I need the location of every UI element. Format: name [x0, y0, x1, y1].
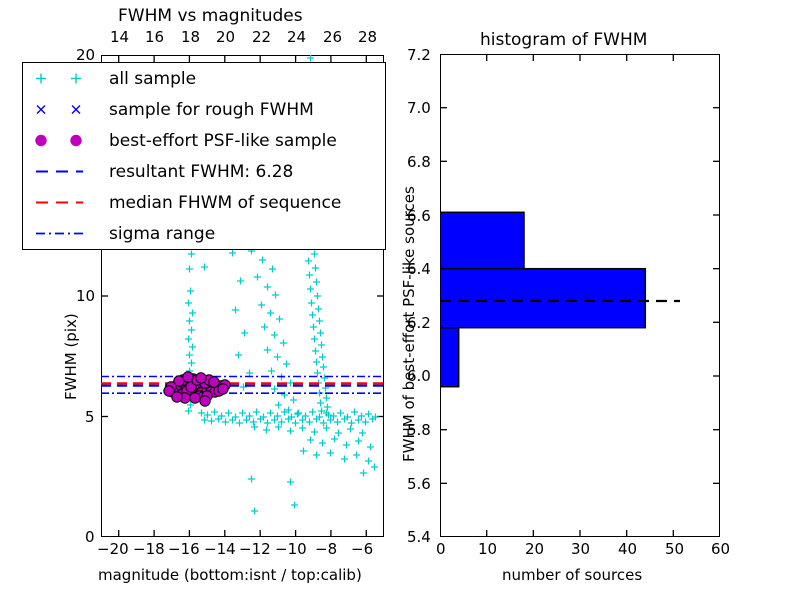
scatter-x-tick--12: −12: [239, 540, 271, 558]
scatter-y-axis-label: FWHM (pix): [62, 313, 80, 400]
legend-item-psf-sample[interactable]: best-effort PSF-like sample: [23, 125, 385, 156]
scatter-top-tick-14: 14: [110, 28, 129, 46]
circle-marker-icon: [23, 125, 109, 156]
legend-item-all-sample[interactable]: all sample: [23, 63, 385, 94]
histogram-bar: [440, 328, 459, 387]
hist-x-tick-50: 50: [665, 540, 684, 558]
legend-label: sigma range: [109, 224, 215, 244]
scatter-x-tick--8: −8: [315, 540, 337, 558]
hist-y-tick-7.0: 7.0: [407, 99, 431, 117]
scatter-x-tick--16: −16: [168, 540, 200, 558]
legend-item-rough-sample[interactable]: sample for rough FWHM: [23, 94, 385, 125]
dashed-line-icon: [23, 187, 109, 218]
histogram-plot-area: [440, 54, 720, 537]
plus-marker-icon: [23, 63, 109, 94]
histogram-bar: [440, 269, 645, 328]
legend-label: median FHWM of sequence: [109, 193, 341, 213]
histogram-bars: [440, 212, 645, 386]
legend: all sample sample for rough FWHM b: [22, 62, 386, 250]
histogram-x-axis-label: number of sources: [502, 566, 642, 584]
cross-marker-icon: [23, 94, 109, 125]
scatter-x-tick--6: −6: [351, 540, 373, 558]
histogram-title: histogram of FWHM: [480, 30, 647, 50]
scatter-x-tick--14: −14: [204, 540, 236, 558]
dashed-line-icon: [23, 156, 109, 187]
legend-item-median-fhwm[interactable]: median FHWM of sequence: [23, 187, 385, 218]
legend-item-resultant-fwhm[interactable]: resultant FWHM: 6.28: [23, 156, 385, 187]
legend-label: best-effort PSF-like sample: [109, 131, 337, 151]
histogram-y-axis-label: FWHM of best-effort PSF-like sources: [400, 186, 418, 462]
scatter-reference-lines: [101, 377, 384, 394]
scatter-top-tick-26: 26: [323, 28, 342, 46]
scatter-x-tick--10: −10: [275, 540, 307, 558]
hist-x-tick-20: 20: [525, 540, 544, 558]
hist-y-tick-6.8: 6.8: [407, 153, 431, 171]
scatter-x-axis-label: magnitude (bottom:isnt / top:calib): [98, 566, 362, 584]
legend-label: sample for rough FWHM: [109, 100, 314, 120]
scatter-top-tick-28: 28: [358, 28, 377, 46]
scatter-top-tick-24: 24: [287, 28, 306, 46]
scatter-y-tick-5: 5: [85, 408, 95, 426]
scatter-y-tick-10: 10: [76, 287, 95, 305]
scatter-x-tick--18: −18: [133, 540, 165, 558]
scatter-title: FWHM vs magnitudes: [118, 6, 303, 26]
scatter-x-tick--20: −20: [97, 540, 129, 558]
histogram-bar: [440, 212, 524, 268]
dashdot-line-icon: [23, 218, 109, 249]
hist-y-tick-5.6: 5.6: [407, 475, 431, 493]
scatter-top-tick-16: 16: [145, 28, 164, 46]
legend-label: all sample: [109, 69, 196, 89]
hist-y-tick-7.2: 7.2: [407, 46, 431, 64]
scatter-top-tick-22: 22: [252, 28, 271, 46]
hist-x-tick-30: 30: [571, 540, 590, 558]
legend-label: resultant FWHM: 6.28: [109, 162, 293, 182]
scatter-top-tick-20: 20: [216, 28, 235, 46]
figure-canvas: FWHM vs magnitudes: [0, 0, 800, 600]
hist-x-tick-0: 0: [436, 540, 446, 558]
scatter-y-tick-0: 0: [85, 528, 95, 546]
hist-x-tick-60: 60: [711, 540, 730, 558]
legend-item-sigma-range[interactable]: sigma range: [23, 218, 385, 249]
hist-y-tick-5.4: 5.4: [407, 528, 431, 546]
scatter-top-tick-18: 18: [181, 28, 200, 46]
hist-x-tick-10: 10: [478, 540, 497, 558]
hist-x-tick-40: 40: [618, 540, 637, 558]
